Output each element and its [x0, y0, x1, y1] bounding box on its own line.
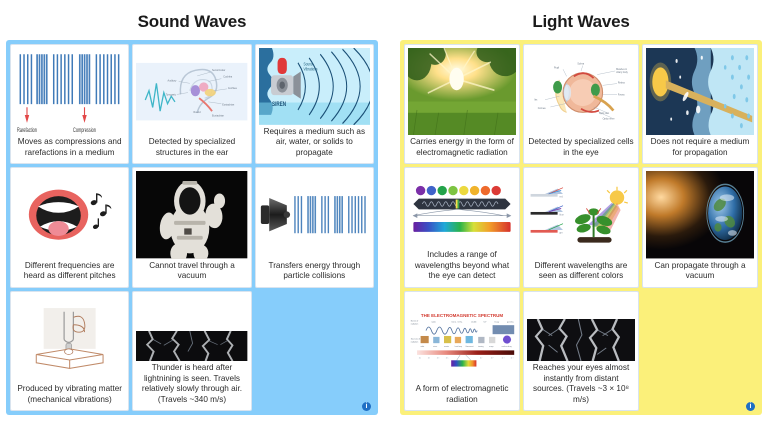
svg-text:X-ray: X-ray [494, 321, 499, 323]
card-light-em-radiation[interactable]: THE ELECTROMAGNETIC SPECTRUM radiomicro.… [404, 291, 520, 411]
electromagnetic-spectrum-chart-icon: THE ELECTROMAGNETIC SPECTRUM radiomicro.… [408, 295, 516, 382]
rarefaction-label: Rarefaction [17, 127, 37, 134]
card-sound-requires-medium[interactable]: SIREN Sound Vibrations Requires a medium… [255, 44, 374, 164]
svg-text:gamma: gamma [507, 321, 514, 323]
svg-text:micro. / infra.: micro. / infra. [451, 321, 463, 323]
svg-text:Optic disc: Optic disc [599, 112, 610, 115]
svg-text:Cochlea: Cochlea [224, 76, 233, 79]
ear-anatomy-diagram-icon: SemicircularCochlea CochleaEustachian Au… [136, 48, 247, 135]
svg-text:Tympanic: Tympanic [166, 93, 177, 96]
card-sound-frequencies-pitches[interactable]: Different frequencies are heard as diffe… [10, 167, 129, 287]
svg-text:Retina: Retina [618, 82, 625, 85]
svg-text:Semicircular: Semicircular [212, 69, 225, 72]
card-light-empty-slot [642, 291, 758, 411]
sunlight-through-trees-photo-icon [408, 48, 516, 135]
light-panel-info-badge[interactable]: i [746, 402, 755, 411]
light-card-grid: Carries energy in the form of electromag… [404, 44, 758, 411]
card-text: A form of electromagnetic radiation [408, 384, 516, 406]
compression-label: Compression [73, 127, 96, 134]
sound-panel-info-badge[interactable]: i [362, 402, 371, 411]
card-sound-no-vacuum[interactable]: Cannot travel through a vacuum [132, 167, 251, 287]
svg-text:Pupil: Pupil [554, 67, 560, 69]
svg-text:Auditory: Auditory [168, 79, 178, 82]
card-text: Detected by specialized structures in th… [136, 137, 247, 159]
card-sound-ear-detection[interactable]: SemicircularCochlea CochleaEustachian Au… [132, 44, 251, 164]
tuning-fork-vibration-diagram-icon [14, 295, 125, 382]
sound-waves-title: Sound Waves [6, 12, 378, 32]
card-text: Different wavelengths are seen as differ… [527, 261, 635, 283]
card-light-vacuum-propagation[interactable]: Can propagate through a vacuum [642, 167, 758, 287]
svg-text:Eustachian: Eustachian [223, 104, 236, 107]
svg-text:Optic nerve: Optic nerve [603, 118, 616, 121]
card-text: Reaches your eyes almost instantly from … [527, 363, 635, 406]
svg-text:Sources of: Sources of [411, 338, 421, 340]
card-light-no-medium[interactable]: Does not require a medium for propagatio… [642, 44, 758, 164]
svg-text:Round: Round [194, 111, 202, 114]
lightning-storm-photo-icon [136, 331, 247, 361]
card-sound-compressions[interactable]: Rarefaction Compression Moves as compres… [10, 44, 129, 164]
em-spectrum-chart-title: THE ELECTROMAGNETIC SPECTRUM [421, 313, 504, 318]
svg-text:Muscles in: Muscles in [616, 69, 628, 71]
card-text: Can propagate through a vacuum [646, 261, 754, 283]
comparison-board: Sound Waves [0, 0, 768, 432]
svg-text:10⁻⁷: 10⁻⁷ [480, 357, 483, 359]
sun-ray-through-space-illustration-icon [646, 48, 754, 135]
svg-text:radiation: radiation [411, 340, 419, 343]
prism-refraction-plant-illustration-icon: red blue grn [527, 171, 635, 258]
svg-text:Cochlea: Cochlea [228, 87, 237, 90]
card-text: Requires a medium such as air, water, or… [259, 127, 370, 160]
svg-text:Cornea: Cornea [538, 107, 546, 110]
earth-from-space-photo-icon [646, 171, 754, 258]
svg-text:radiation: radiation [411, 322, 419, 325]
card-text: Moves as compressions and rarefactions i… [14, 137, 125, 159]
open-mouth-music-notes-illustration-icon [14, 171, 125, 258]
visible-spectrum-wavelength-diagram-icon [408, 171, 516, 248]
light-waves-panel: Carries energy in the form of electromag… [400, 40, 762, 415]
light-waves-title: Light Waves [400, 12, 762, 32]
card-text: Different frequencies are heard as diffe… [14, 261, 125, 283]
card-text: Carries energy in the form of electromag… [408, 137, 516, 159]
svg-text:blue: blue [559, 215, 564, 217]
card-light-different-colors[interactable]: red blue grn [523, 167, 639, 287]
svg-text:SIREN: SIREN [272, 102, 286, 109]
card-text: Detected by specialized cells in the eye [527, 137, 635, 159]
card-text: Includes a range of wavelengths beyond w… [408, 250, 516, 283]
card-text: Does not require a medium for propagatio… [646, 137, 754, 159]
card-sound-vibrating-matter[interactable]: Produced by vibrating matter (mechanical… [10, 291, 129, 411]
sound-waves-panel: Rarefaction Compression Moves as compres… [6, 40, 378, 415]
card-text: Thunder is heard after lightnining is se… [136, 363, 247, 406]
astronaut-in-space-photo-icon [136, 171, 247, 258]
card-text: Transfers energy through particle collis… [259, 261, 370, 283]
svg-text:Fovea: Fovea [618, 94, 625, 96]
svg-text:Sclera: Sclera [577, 63, 584, 66]
svg-text:10⁻⁹: 10⁻⁹ [491, 357, 494, 359]
eye-anatomy-diagram-icon: ScleraPupil Muscles inciliary body Retin… [527, 48, 635, 135]
card-sound-particle-collisions[interactable]: Transfers energy through particle collis… [255, 167, 374, 287]
card-text: Produced by vibrating matter (mechanical… [14, 384, 125, 406]
svg-text:Eustachian: Eustachian [212, 115, 225, 118]
card-light-instant-travel[interactable]: Reaches your eyes almost instantly from … [523, 291, 639, 411]
card-sound-empty-slot [255, 291, 374, 411]
card-text: Cannot travel through a vacuum [136, 261, 247, 283]
svg-text:visible: visible [471, 321, 476, 323]
svg-text:ciliary body: ciliary body [616, 71, 628, 74]
card-light-eye-detection[interactable]: ScleraPupil Muscles inciliary body Retin… [523, 44, 639, 164]
card-light-wavelength-range[interactable]: Includes a range of wavelengths beyond w… [404, 167, 520, 287]
speaker-particle-collisions-diagram-icon [259, 171, 370, 258]
svg-text:Vibrations: Vibrations [303, 67, 317, 72]
card-light-carries-energy[interactable]: Carries energy in the form of electromag… [404, 44, 520, 164]
siren-sound-waves-illustration-icon: SIREN Sound Vibrations [259, 48, 370, 125]
card-sound-thunder-lightning[interactable]: Thunder is heard after lightnining is se… [132, 291, 251, 411]
svg-text:Name of: Name of [411, 320, 419, 322]
compression-rarefaction-diagram-icon: Rarefaction Compression [14, 48, 125, 135]
svg-text:Sound: Sound [303, 62, 312, 67]
sound-card-grid: Rarefaction Compression Moves as compres… [10, 44, 374, 411]
lightning-storm-photo-icon [527, 319, 635, 361]
